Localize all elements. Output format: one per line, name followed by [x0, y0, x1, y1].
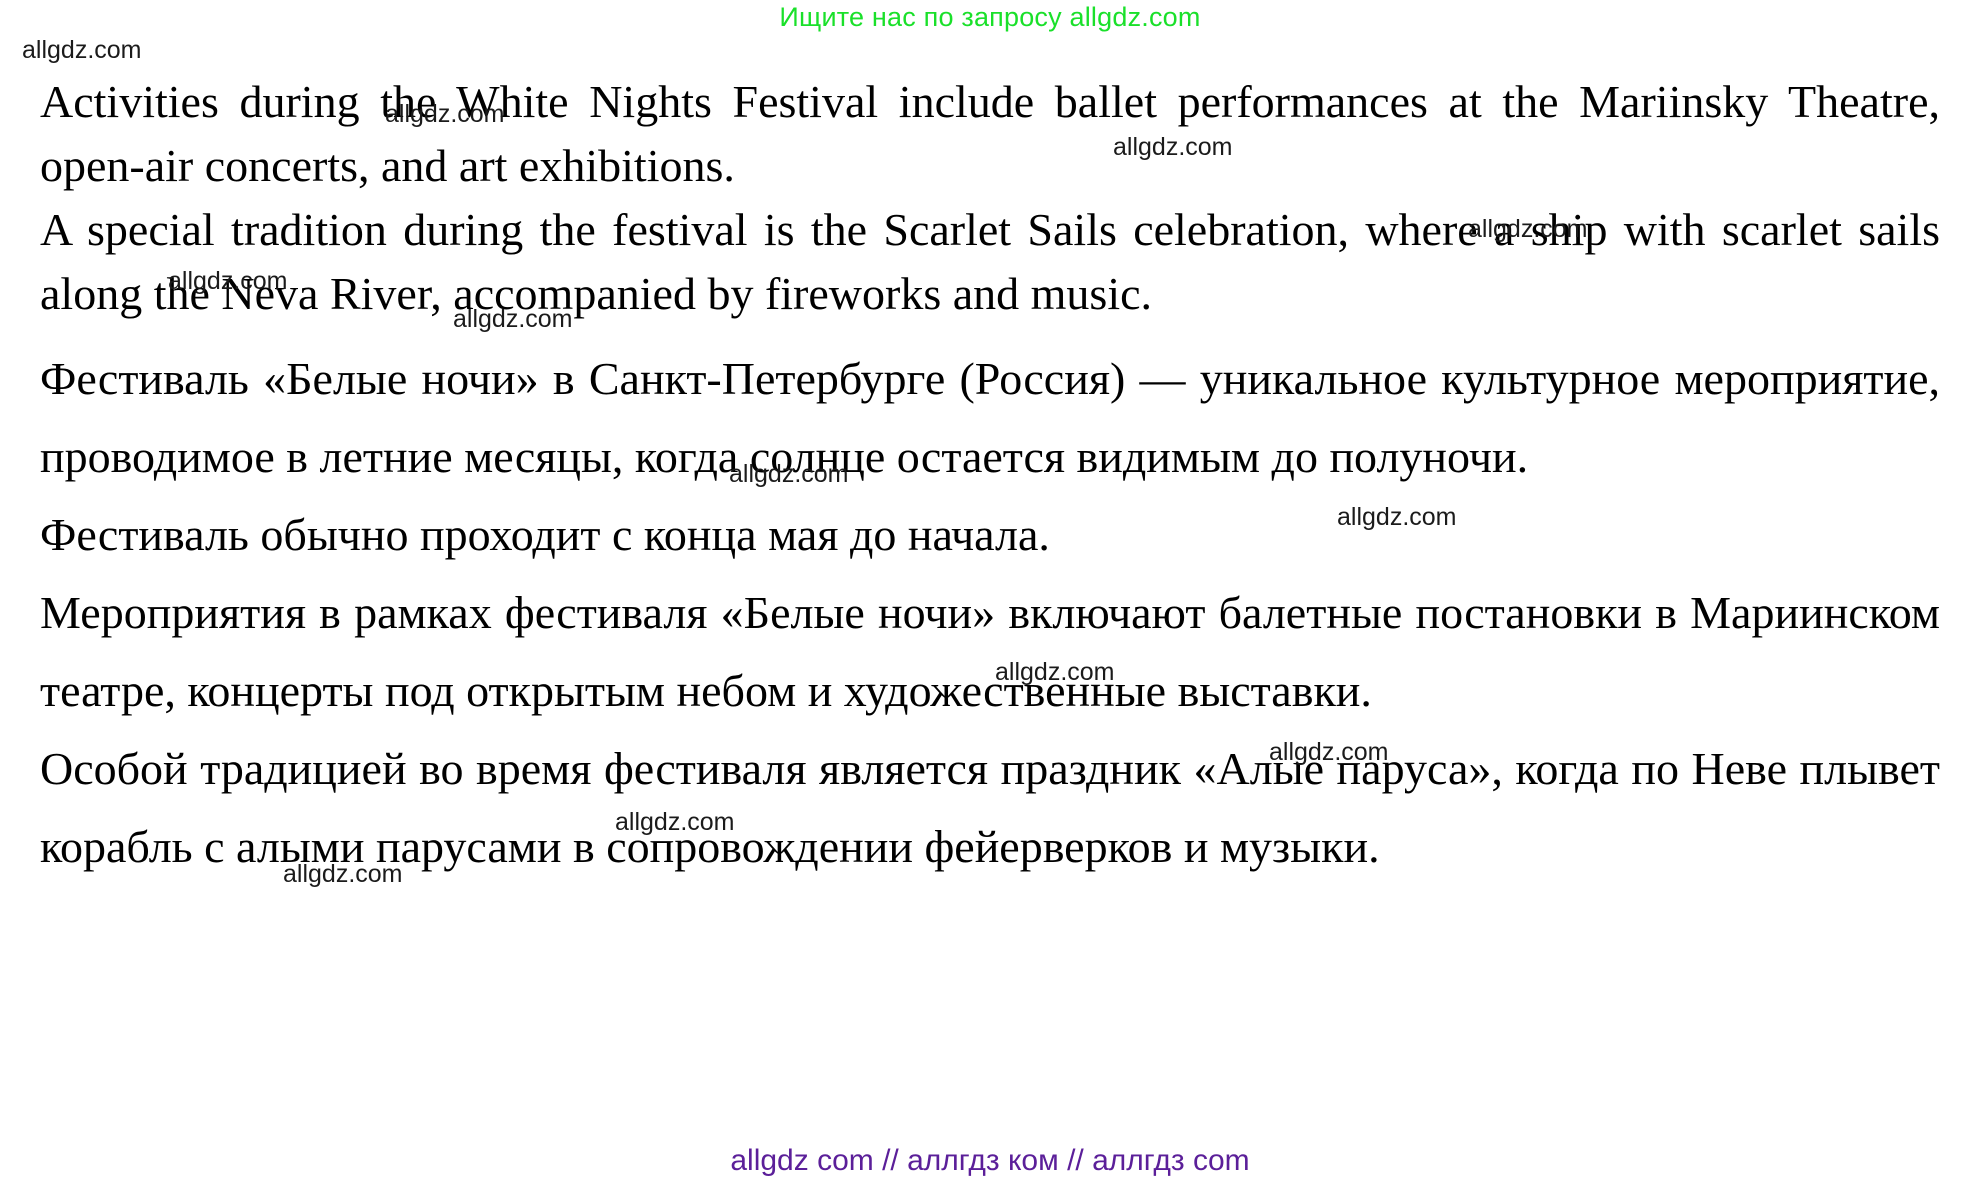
russian-text-block: Фестиваль «Белые ночи» в Санкт-Петербург…: [40, 340, 1940, 886]
russian-paragraph-4: Особой традицией во время фестиваля явля…: [40, 730, 1940, 886]
site-promo-banner: Ищите нас по запросу allgdz.com: [0, 2, 1980, 33]
russian-paragraph-1: Фестиваль «Белые ночи» в Санкт-Петербург…: [40, 340, 1940, 496]
english-text-block: Activities during the White Nights Festi…: [40, 70, 1940, 326]
russian-paragraph-2: Фестиваль обычно проходит с конца мая до…: [40, 496, 1940, 574]
english-paragraph-1: Activities during the White Nights Festi…: [40, 70, 1940, 198]
watermark-1: allgdz.com: [22, 36, 142, 65]
russian-paragraph-3: Мероприятия в рамках фестиваля «Белые но…: [40, 574, 1940, 730]
footer-branding: allgdz com // аллгдз ком // аллгдз com: [0, 1144, 1980, 1178]
english-paragraph-2: A special tradition during the festival …: [40, 198, 1940, 326]
